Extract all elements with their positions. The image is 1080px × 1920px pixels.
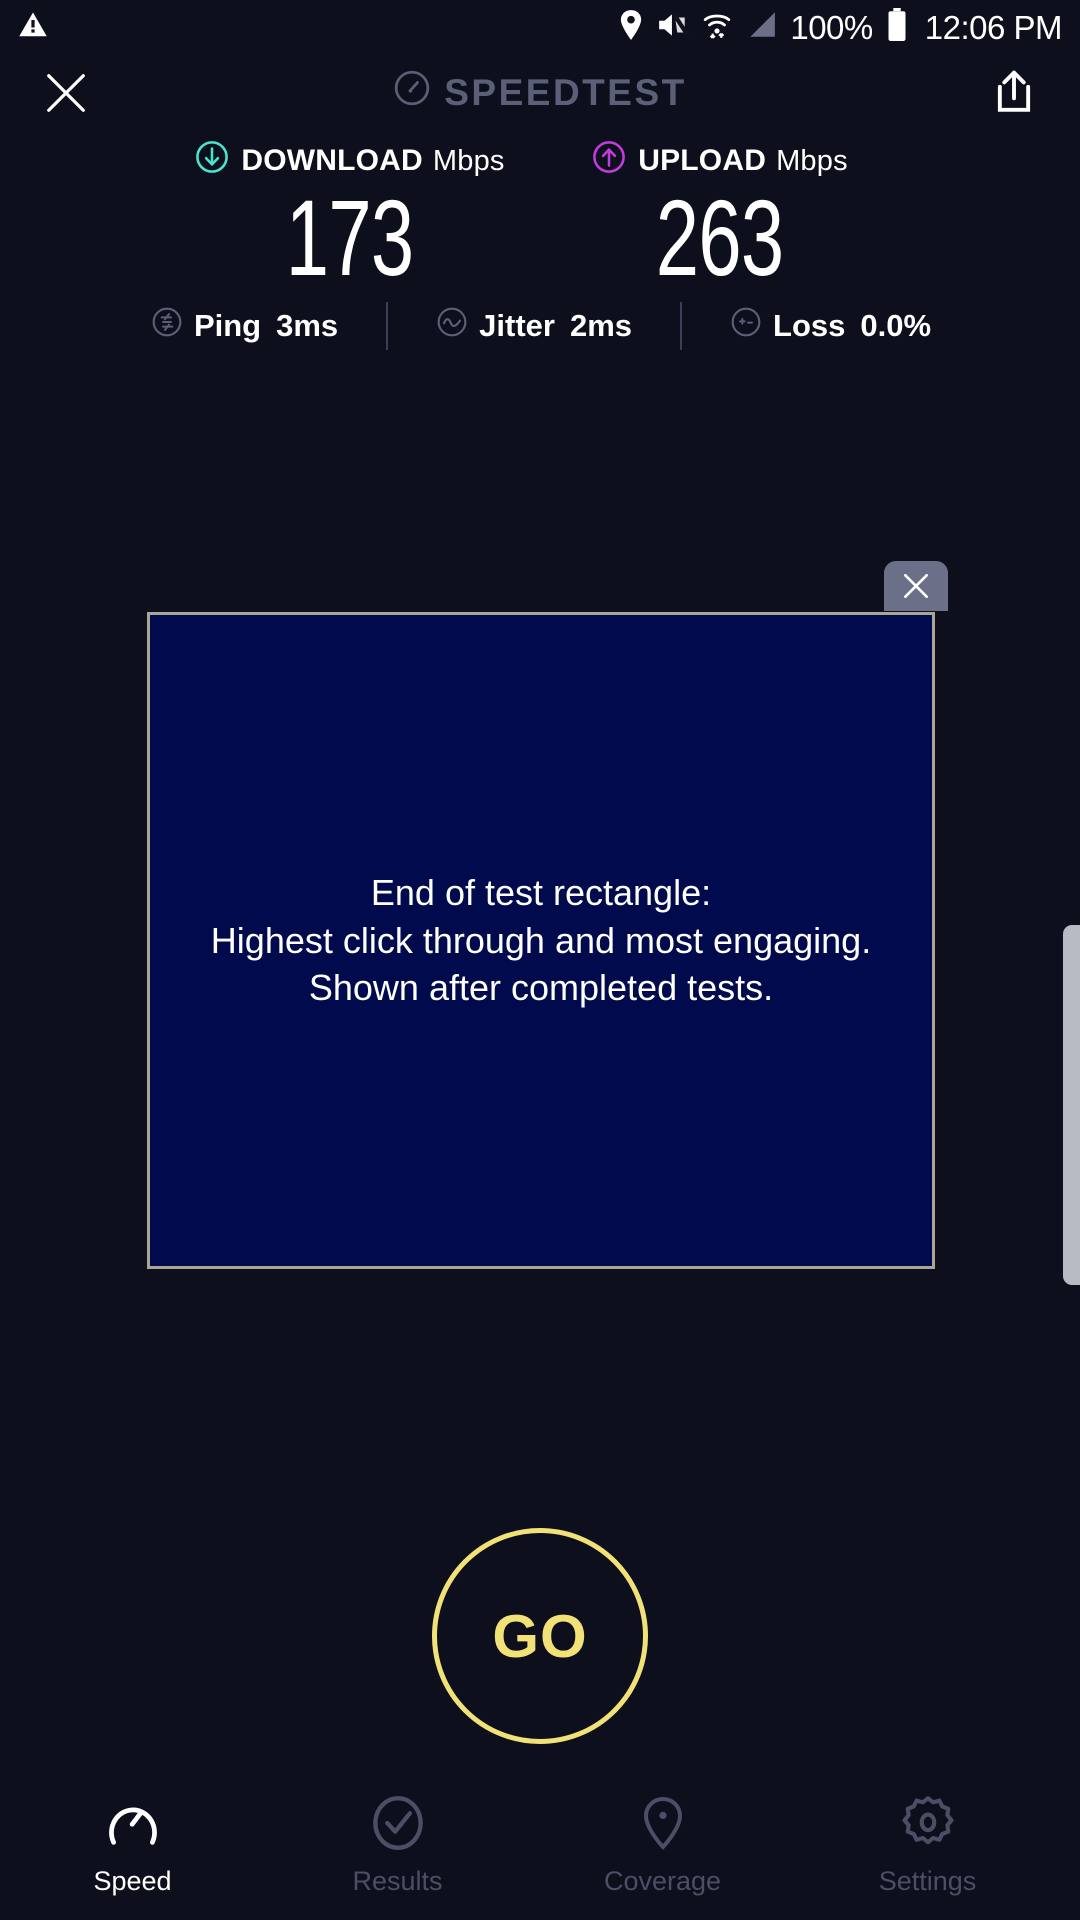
status-bar-right: 100% 12:06 PM <box>618 8 1062 47</box>
upload-arrow-icon <box>592 140 626 182</box>
nav-item-speed[interactable]: Speed <box>0 1795 265 1897</box>
download-unit-text: Mbps <box>433 145 505 178</box>
network-quality-row: Ping 3ms Jitter 2ms Los <box>0 302 1080 350</box>
cellular-signal-icon <box>745 10 777 45</box>
divider <box>386 302 388 350</box>
close-icon <box>43 70 89 116</box>
jitter-label: Jitter <box>479 308 555 344</box>
nav-item-results[interactable]: Results <box>265 1795 530 1897</box>
loss-label: Loss <box>773 308 845 344</box>
nav-item-settings[interactable]: Settings <box>795 1795 1060 1897</box>
ping-value: 3ms <box>276 308 338 344</box>
nav-label-results: Results <box>352 1866 442 1897</box>
go-button-label: GO <box>492 1602 587 1671</box>
gear-icon <box>900 1795 956 1856</box>
location-pin-icon <box>635 1795 691 1856</box>
check-circle-icon <box>370 1795 426 1856</box>
nav-label-settings: Settings <box>879 1866 977 1897</box>
advertisement-banner[interactable]: End of test rectangle: Highest click thr… <box>147 612 935 1269</box>
status-bar: 100% 12:06 PM <box>0 0 1080 55</box>
ad-close-button[interactable] <box>884 561 948 611</box>
ad-line: Highest click through and most engaging. <box>211 917 871 965</box>
nav-label-coverage: Coverage <box>604 1866 721 1897</box>
share-button[interactable] <box>986 65 1042 121</box>
upload-unit-text: Mbps <box>776 145 848 178</box>
location-pin-icon <box>618 9 644 46</box>
download-arrow-icon <box>195 140 229 182</box>
page-title-label: SPEEDTEST <box>444 72 687 114</box>
ad-text: End of test rectangle: Highest click thr… <box>211 869 871 1012</box>
go-button[interactable]: GO <box>432 1528 648 1744</box>
warning-triangle-icon <box>18 10 48 45</box>
status-bar-left <box>18 10 48 45</box>
download-metric: DOWNLOAD Mbps 173 <box>170 140 530 292</box>
upload-value: 263 <box>656 184 784 292</box>
loss-icon <box>730 306 762 346</box>
loss-metric: Loss 0.0% <box>730 306 931 346</box>
upload-label-text: UPLOAD <box>638 144 766 178</box>
bottom-navigation: Speed Results Coverage Settings <box>0 1785 1080 1920</box>
ping-icon <box>151 306 183 346</box>
download-label: DOWNLOAD Mbps <box>195 140 504 182</box>
wifi-icon <box>702 10 732 45</box>
battery-percent-label: 100% <box>790 9 872 47</box>
speed-results-row: DOWNLOAD Mbps 173 UPLOAD Mbps 263 <box>0 140 1080 292</box>
upload-label: UPLOAD Mbps <box>592 140 848 182</box>
loss-value: 0.0% <box>860 308 931 344</box>
ping-label: Ping <box>194 308 261 344</box>
scrollbar-thumb[interactable] <box>1063 925 1080 1285</box>
ad-line: End of test rectangle: <box>211 869 871 917</box>
close-icon <box>900 570 932 602</box>
jitter-value: 2ms <box>570 308 632 344</box>
speedtest-logo-icon <box>393 69 431 116</box>
jitter-metric: Jitter 2ms <box>436 306 632 346</box>
jitter-icon <box>436 306 468 346</box>
download-label-text: DOWNLOAD <box>241 144 423 178</box>
upload-metric: UPLOAD Mbps 263 <box>530 140 910 292</box>
nav-label-speed: Speed <box>93 1866 171 1897</box>
page-title: SPEEDTEST <box>393 69 687 116</box>
ad-line: Shown after completed tests. <box>211 964 871 1012</box>
results-panel: DOWNLOAD Mbps 173 UPLOAD Mbps 263 <box>0 140 1080 350</box>
share-icon <box>992 70 1036 116</box>
download-value: 173 <box>286 184 414 292</box>
close-button[interactable] <box>38 65 94 121</box>
divider <box>680 302 682 350</box>
clock-label: 12:06 PM <box>925 9 1062 47</box>
app-header: SPEEDTEST <box>0 55 1080 130</box>
ping-metric: Ping 3ms <box>151 306 338 346</box>
speedometer-icon <box>105 1795 161 1856</box>
battery-icon <box>886 8 908 47</box>
nav-item-coverage[interactable]: Coverage <box>530 1795 795 1897</box>
mute-icon <box>657 10 689 45</box>
